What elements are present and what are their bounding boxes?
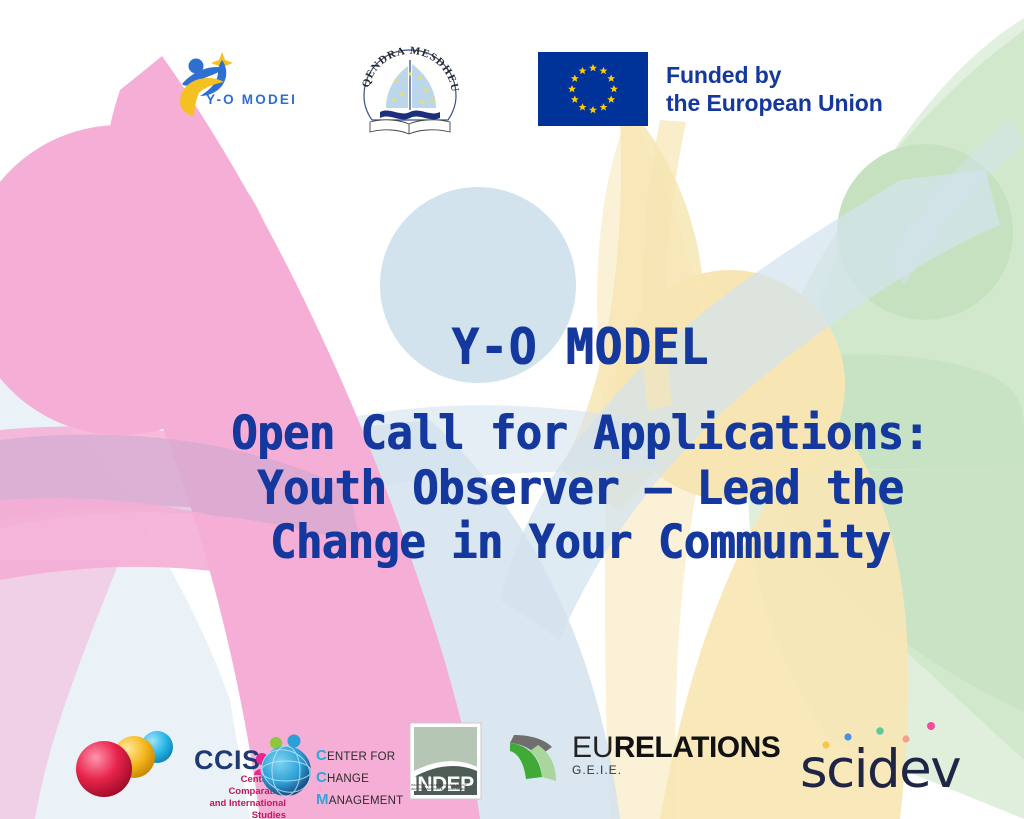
eu-relations-swoosh-icon — [508, 731, 568, 787]
ccm-line-3: MANAGEMENT — [316, 789, 403, 811]
poster-canvas: Y-O MODEL QENDRA — [0, 0, 1024, 819]
title-block: Y-O MODEL Open Call for Applications: Yo… — [170, 322, 990, 571]
call-title-line-3: Change in Your Community — [199, 516, 962, 571]
eu-funding-line-1: Funded by — [666, 61, 883, 89]
eu-relations-word-1: EU — [572, 731, 614, 764]
ccm-line-2: CHANGE — [316, 767, 403, 789]
eu-relations-text-block: EURELATIONS G.E.I.E. — [572, 733, 780, 777]
call-title-line-1: Open Call for Applications: — [199, 407, 962, 462]
partner-logo-row: CCIS Center for Comparative and Internat… — [0, 704, 1024, 819]
eu-funding-text: Funded by the European Union — [666, 61, 883, 117]
logo-qendra-mesdheu[interactable]: QENDRA MESDHEU — [352, 44, 468, 138]
y-o-model-mark-icon: Y-O MODEL — [166, 44, 294, 124]
eu-funding-line-2: the European Union — [666, 89, 883, 117]
eu-flag-icon — [538, 52, 648, 126]
ccm-globe-people-icon — [250, 731, 320, 801]
indep-tagline: INSTITUTE FOR DEVELOPMENT POLICY INSTITU… — [411, 783, 483, 792]
logo-eu-relations[interactable]: EURELATIONS G.E.I.E. — [508, 731, 763, 787]
y-o-model-wordmark: Y-O MODEL — [206, 92, 294, 107]
eu-relations-subtitle: G.E.I.E. — [572, 763, 780, 777]
logo-y-o-model[interactable]: Y-O MODEL — [166, 44, 294, 124]
program-title: Y-O MODEL — [203, 322, 957, 373]
eu-relations-word-2: RELATIONS — [614, 731, 781, 764]
logo-indep[interactable]: INDEP INSTITUTE FOR DEVELOPMENT POLICY I… — [408, 721, 483, 801]
ccm-text-block: CENTER FOR CHANGE MANAGEMENT — [316, 745, 403, 810]
logo-scidev[interactable]: scidev — [800, 721, 975, 799]
call-title-line-2: Youth Observer – Lead the — [199, 462, 962, 517]
qendra-mesdheu-emblem-icon: QENDRA MESDHEU — [352, 44, 468, 138]
header-logo-row: Y-O MODEL QENDRA — [0, 0, 1024, 150]
ccm-line-1: CENTER FOR — [316, 745, 403, 767]
indep-tagline-line-2: INSTITUTI PËR POLITIKA ZHVILLIMORE — [411, 787, 483, 791]
logo-funded-by-eu[interactable]: Funded by the European Union — [538, 48, 908, 130]
scidev-wordmark: scidev — [800, 743, 960, 796]
call-title: Open Call for Applications: Youth Observ… — [199, 407, 962, 571]
logo-center-for-change-management[interactable]: CENTER FOR CHANGE MANAGEMENT — [250, 729, 395, 799]
